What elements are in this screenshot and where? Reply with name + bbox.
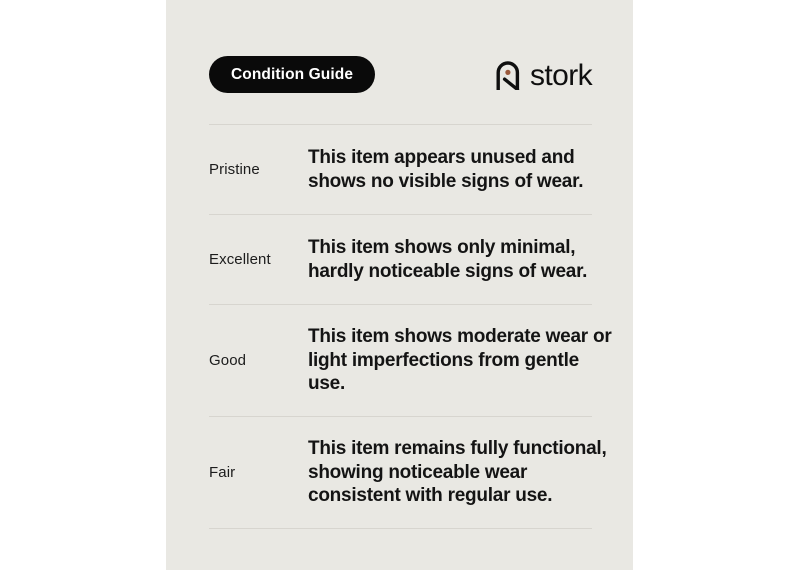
condition-description: This item appears unused and shows no vi… [308,146,592,193]
description-line: use. [308,372,611,395]
condition-guide-card: Condition Guide stork Pristine This item… [166,0,633,570]
description-line: This item shows moderate wear or [308,325,611,348]
description-line: This item shows only minimal, [308,236,592,259]
condition-description: This item shows only minimal, hardly not… [308,236,592,283]
condition-description: This item remains fully functional, show… [308,437,606,507]
condition-label: Good [209,352,308,370]
description-line: This item remains fully functional, [308,437,606,460]
description-line: light imperfections from gentle [308,349,611,372]
table-row: Pristine This item appears unused and sh… [209,125,592,214]
condition-label: Excellent [209,251,308,269]
description-line: showing noticeable wear [308,461,606,484]
description-line: consistent with regular use. [308,484,606,507]
description-line: This item appears unused and [308,146,592,169]
condition-guide-badge: Condition Guide [209,56,375,93]
table-row: Excellent This item shows only minimal, … [209,215,592,304]
row-divider [209,528,592,529]
table-row: Good This item shows moderate wear or li… [209,305,592,416]
stork-wordmark: stork [530,61,592,91]
stork-brand-logo: stork [495,57,592,93]
stork-arch-icon [495,60,521,90]
condition-description: This item shows moderate wear or light i… [308,325,611,395]
table-row: Fair This item remains fully functional,… [209,417,592,528]
description-line: shows no visible signs of wear. [308,170,592,193]
screenshot-stage: Condition Guide stork Pristine This item… [0,0,800,570]
description-line: hardly noticeable signs of wear. [308,260,592,283]
condition-label: Pristine [209,161,308,179]
condition-label: Fair [209,464,308,482]
condition-guide-table: Pristine This item appears unused and sh… [209,124,592,529]
card-header: Condition Guide stork [209,56,592,94]
